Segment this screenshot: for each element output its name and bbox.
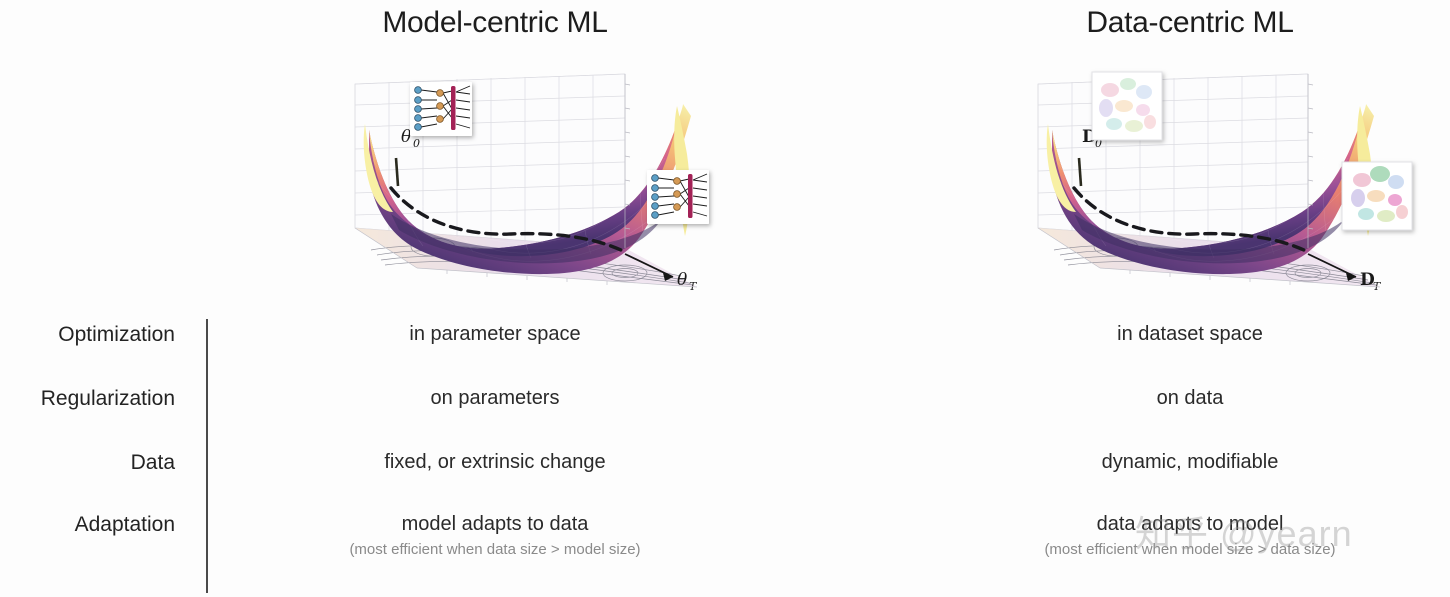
thetaT-label: θ — [677, 270, 687, 290]
model-centric-loss-landscape-figure: θ 0 θ T — [325, 62, 745, 290]
column-title-data-centric: Data-centric ML — [1050, 6, 1330, 40]
cell-data-centric-regularization: on data — [950, 387, 1430, 410]
slide-canvas: Model-centric ML Data-centric ML — [0, 0, 1450, 597]
cell-model-centric-data: fixed, or extrinsic change — [255, 451, 735, 474]
data-centric-loss-landscape-figure: D 0 D T — [1000, 62, 1420, 290]
row-label-regularization: Regularization — [0, 387, 175, 411]
cell-note-text: (most efficient when model size > data s… — [950, 541, 1430, 558]
theta0-label: θ — [401, 127, 411, 147]
dataset-scatter-thumbnail-start — [1092, 72, 1162, 140]
theta0-subscript: 0 — [413, 137, 420, 150]
row-label-adaptation: Adaptation — [0, 513, 175, 537]
row-label-optimization: Optimization — [0, 323, 175, 347]
table-divider — [206, 319, 208, 593]
dT-subscript: T — [1373, 280, 1382, 290]
row-label-data: Data — [0, 451, 175, 475]
thetaT-subscript: T — [689, 280, 698, 290]
cell-data-centric-optimization: in dataset space — [950, 323, 1430, 346]
cell-model-centric-regularization: on parameters — [255, 387, 735, 410]
cell-data-centric-adaptation: data adapts to model (most efficient whe… — [950, 513, 1430, 558]
neural-network-diagram-start — [410, 82, 472, 136]
cell-main-text: data adapts to model — [1097, 513, 1284, 535]
neural-network-diagram-end — [647, 170, 709, 224]
cell-model-centric-adaptation: model adapts to data (most efficient whe… — [255, 513, 735, 558]
cell-note-text: (most efficient when data size > model s… — [255, 541, 735, 558]
column-title-model-centric: Model-centric ML — [355, 6, 635, 40]
cell-model-centric-optimization: in parameter space — [255, 323, 735, 346]
dataset-scatter-thumbnail-end — [1342, 162, 1412, 230]
cell-data-centric-data: dynamic, modifiable — [950, 451, 1430, 474]
comparison-table: Optimization in parameter space in datas… — [0, 315, 1450, 597]
cell-main-text: model adapts to data — [402, 513, 589, 535]
